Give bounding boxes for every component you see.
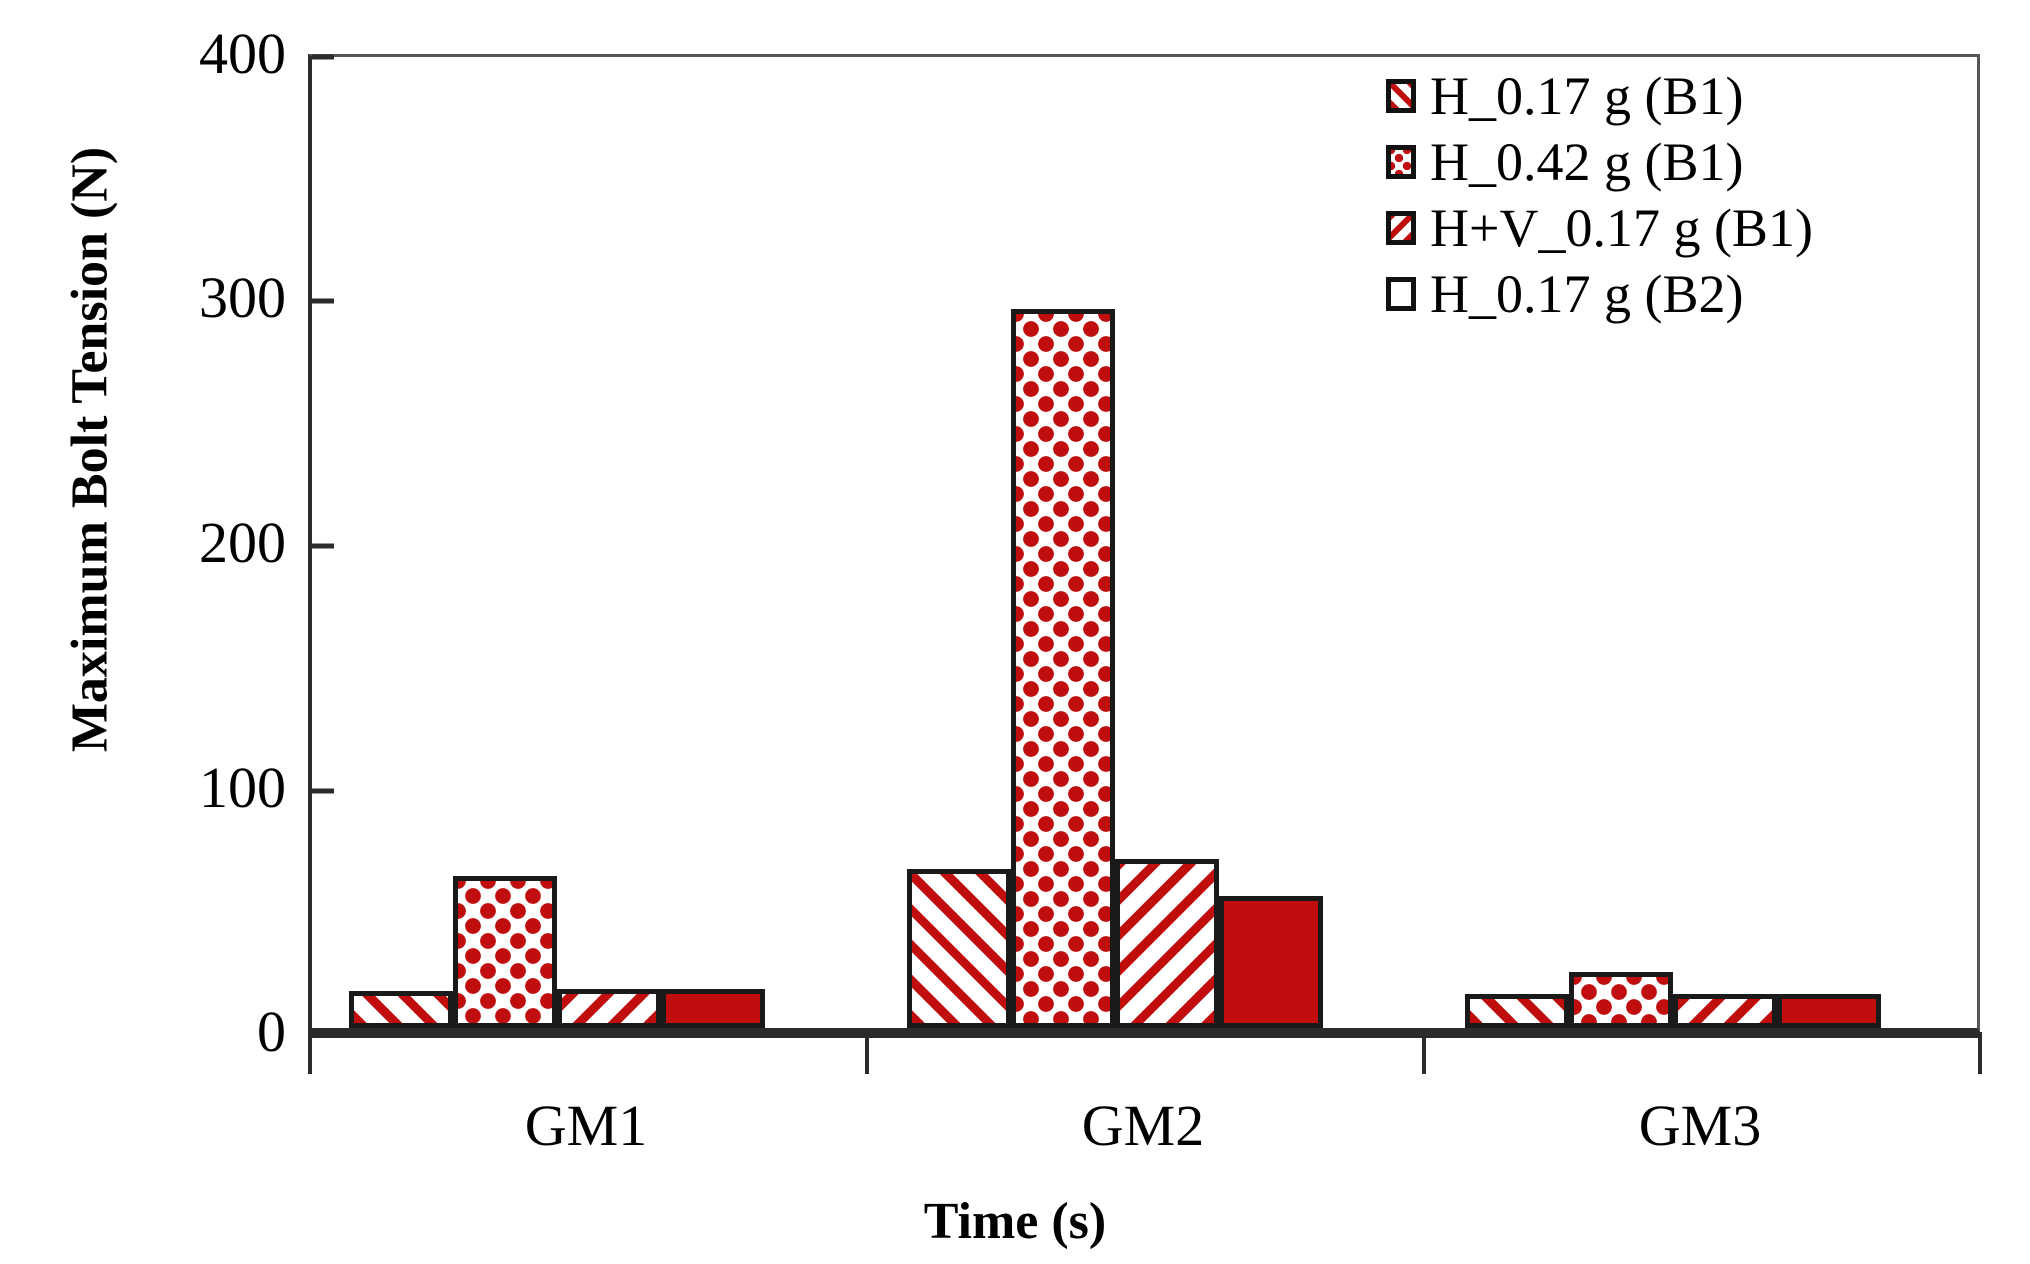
bar-gm3-h042-b1	[1569, 972, 1673, 1028]
x-tick-label-gm2: GM2	[993, 1092, 1293, 1159]
y-tick-label-300: 300	[96, 269, 286, 327]
bar-gm2-hv017-b1	[1115, 859, 1219, 1028]
bar-gm3-h017-b2	[1777, 994, 1881, 1028]
bar-gm1-h017-b2	[661, 989, 765, 1028]
legend-item-h017-b2: H_0.17 g (B2)	[1386, 265, 1813, 323]
x-tick-label-gm1: GM1	[436, 1092, 736, 1159]
x-axis-title: Time (s)	[0, 1192, 2030, 1251]
bar-gm1-h042-b1	[453, 876, 557, 1028]
bar-gm2-h017-b1	[907, 869, 1011, 1028]
legend-label-h017-b2: H_0.17 g (B2)	[1430, 267, 1743, 321]
legend-label-h017-b1: H_0.17 g (B1)	[1430, 69, 1743, 123]
plot-area: H_0.17 g (B1) H_0.42 g (B1) H+V_0.17 g (…	[308, 54, 1980, 1032]
y-tick-label-200: 200	[96, 514, 286, 572]
bar-gm3-hv017-b1	[1673, 994, 1777, 1028]
legend-swatch-dots-icon	[1386, 145, 1416, 179]
bar-gm1-hv017-b1	[557, 989, 661, 1028]
y-tick-label-400: 400	[96, 25, 286, 83]
bar-gm3-h017-b1	[1465, 994, 1569, 1028]
x-tick-mark-0	[308, 1032, 312, 1074]
legend-swatch-bdiag-icon	[1386, 211, 1416, 245]
legend-item-hv017-b1: H+V_0.17 g (B1)	[1386, 199, 1813, 257]
x-axis-line	[308, 1032, 1980, 1038]
legend-label-hv017-b1: H+V_0.17 g (B1)	[1430, 201, 1813, 255]
y-tick-label-0: 0	[96, 1003, 286, 1061]
x-tick-mark-1	[865, 1032, 869, 1074]
bar-gm2-h017-b2	[1219, 896, 1323, 1028]
chart-figure: Maximum Bolt Tension (N) 400 300 200 100…	[0, 0, 2030, 1264]
legend-swatch-fdiag-icon	[1386, 79, 1416, 113]
y-tick-label-100: 100	[96, 759, 286, 817]
x-tick-mark-2	[1422, 1032, 1426, 1074]
legend: H_0.17 g (B1) H_0.42 g (B1) H+V_0.17 g (…	[1386, 67, 1813, 323]
legend-label-h042-b1: H_0.42 g (B1)	[1430, 135, 1743, 189]
x-tick-label-gm3: GM3	[1550, 1092, 1850, 1159]
legend-item-h042-b1: H_0.42 g (B1)	[1386, 133, 1813, 191]
bar-gm1-h017-b1	[349, 991, 453, 1028]
x-tick-mark-3	[1978, 1032, 1982, 1074]
y-axis-tick-labels: 400 300 200 100 0	[96, 0, 286, 1264]
legend-item-h017-b1: H_0.17 g (B1)	[1386, 67, 1813, 125]
bar-gm2-h042-b1	[1011, 309, 1115, 1028]
legend-swatch-solid-icon	[1386, 277, 1416, 311]
